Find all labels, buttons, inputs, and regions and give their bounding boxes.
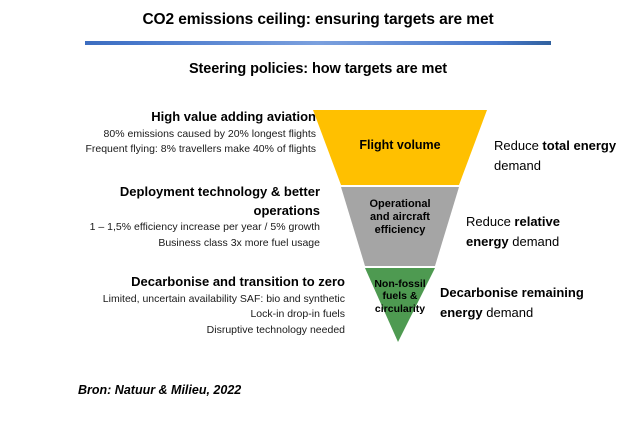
funnel-label-operational-line-1: Operational [345,198,455,211]
left-block-2-heading-line-2: operations [20,202,320,220]
right-block-3-emphasis-2: energy [440,305,483,320]
funnel-label-nonfossil-line-2: fuels & [350,290,450,302]
right-block-1-prefix: Reduce [494,138,542,153]
source-attribution: Bron: Natuur & Milieu, 2022 [78,383,241,397]
left-block-1-line-2: Frequent flying: 8% travellers make 40% … [20,142,316,158]
left-block-2-heading-line-1: Deployment technology & better [20,183,320,201]
funnel-label-flight-volume: Flight volume [330,138,470,153]
funnel-label-operational-efficiency: Operational and aircraft efficiency [345,198,455,237]
slide-canvas: CO2 emissions ceiling: ensuring targets … [0,0,636,431]
left-block-2-line-2: Business class 3x more fuel usage [20,236,320,252]
left-block-2-line-1: 1 – 1,5% efficiency increase per year / … [20,220,320,236]
left-block-deployment-technology: Deployment technology & better operation… [20,183,320,252]
right-block-3-suffix: demand [483,305,534,320]
left-block-3-heading: Decarbonise and transition to zero [20,273,345,291]
right-block-2-emphasis-1: relative [514,214,560,229]
right-block-1-suffix: demand [494,158,541,173]
right-block-reduce-relative-energy: Reduce relative energy demand [466,212,634,252]
left-block-3-line-1: Limited, uncertain availability SAF: bio… [20,292,345,308]
left-block-1-heading: High value adding aviation [20,108,316,126]
title-divider-rule [85,41,551,45]
left-block-3-line-2: Lock-in drop-in fuels [20,307,345,323]
funnel-label-nonfossil-line-3: circularity [350,303,450,315]
right-block-2-emphasis-2: energy [466,234,509,249]
right-block-decarbonise-remaining-energy: Decarbonise remaining energy demand [440,283,636,323]
right-block-1-emphasis: total energy [542,138,616,153]
right-block-reduce-total-energy: Reduce total energy demand [494,136,634,176]
funnel-label-operational-line-3: efficiency [345,224,455,237]
funnel-label-non-fossil-fuels: Non-fossil fuels & circularity [350,278,450,315]
funnel-label-operational-line-2: and aircraft [345,211,455,224]
right-block-2-suffix: demand [509,234,560,249]
left-block-decarbonise-transition: Decarbonise and transition to zero Limit… [20,273,345,339]
left-block-3-line-3: Disruptive technology needed [20,323,345,339]
right-block-2-prefix: Reduce [466,214,514,229]
right-block-3-emphasis-1: Decarbonise remaining [440,285,584,300]
page-title: CO2 emissions ceiling: ensuring targets … [0,11,636,29]
page-subtitle: Steering policies: how targets are met [0,61,636,77]
left-block-1-line-1: 80% emissions caused by 20% longest flig… [20,127,316,143]
left-block-high-value-adding-aviation: High value adding aviation 80% emissions… [20,108,316,158]
funnel-label-nonfossil-line-1: Non-fossil [350,278,450,290]
